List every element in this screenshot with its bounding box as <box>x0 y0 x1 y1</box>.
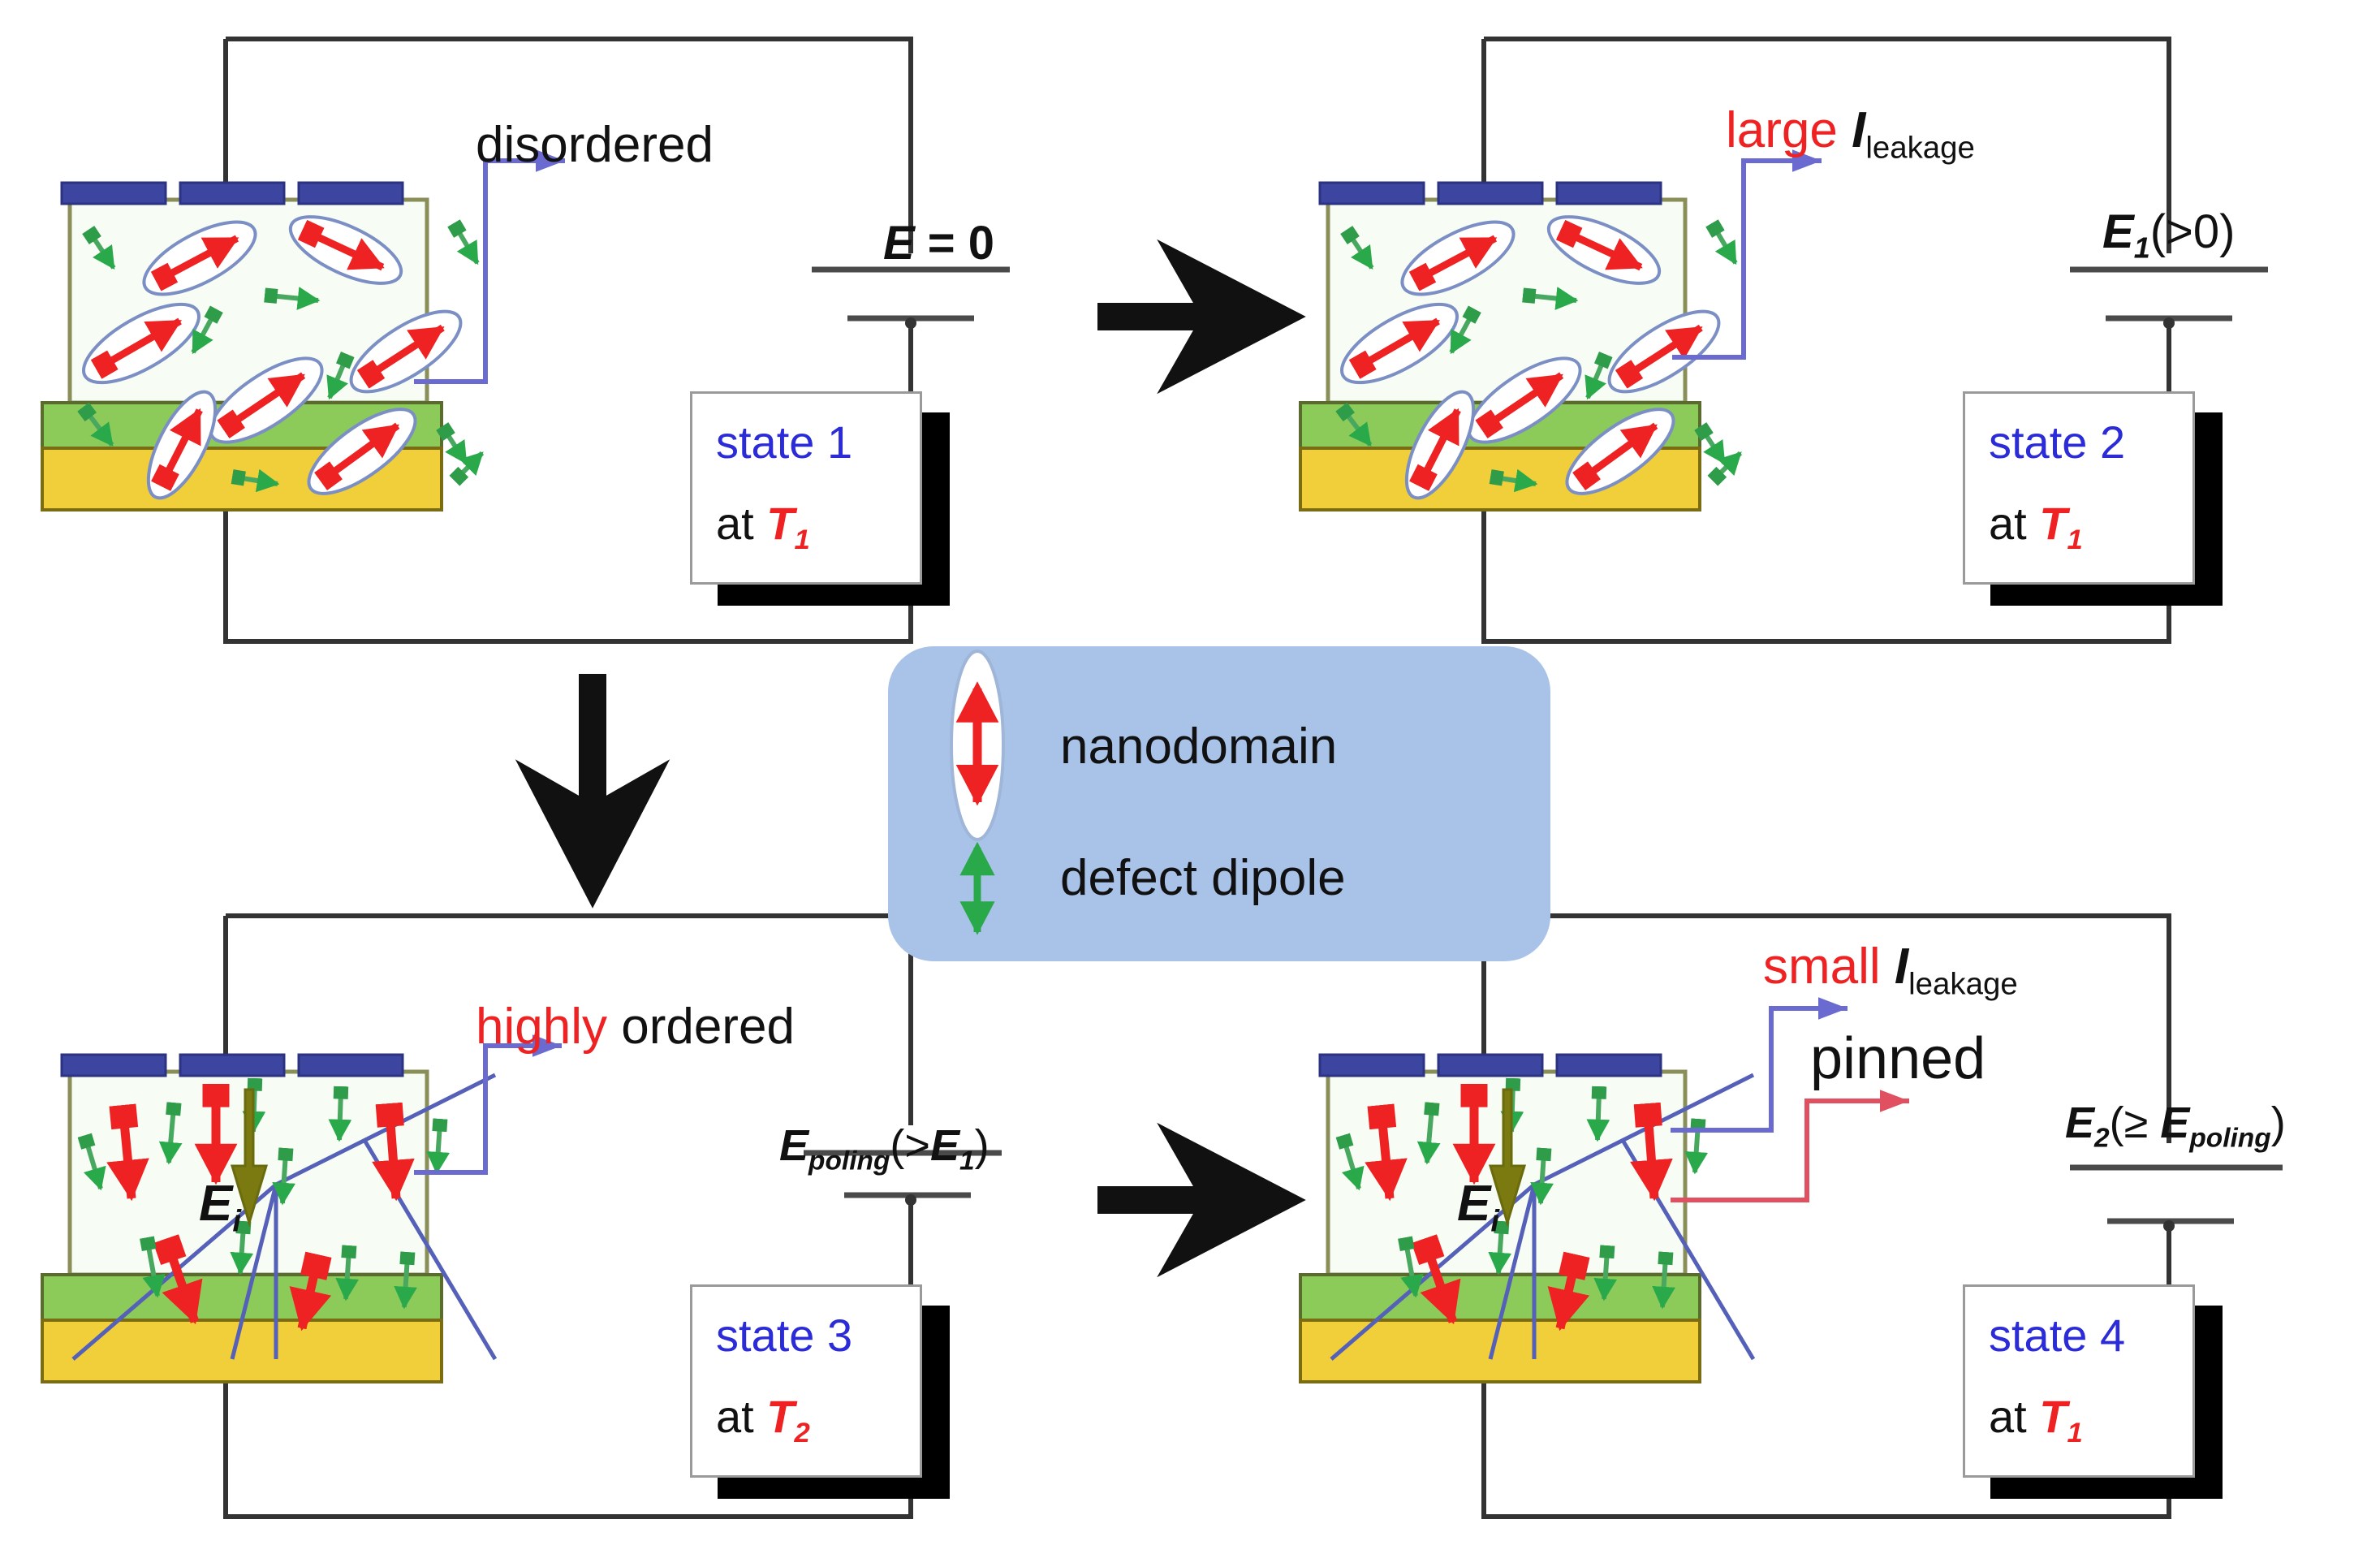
ei-sub-3: i <box>232 1203 241 1238</box>
legend-label-defect-dipole: defect dipole <box>1060 849 1346 907</box>
device-stack-4 <box>1300 1055 1753 1382</box>
e-poling-label: Epoling(>E1) <box>779 1120 990 1177</box>
current-symbol: I <box>1852 102 1865 158</box>
device-stack-1 <box>42 183 482 510</box>
large-word: large <box>1726 102 1852 158</box>
e-zero-label: E = 0 <box>883 216 994 270</box>
leakage-subscript: leakage <box>1865 130 1975 165</box>
e-poling-tail-sub: 1 <box>959 1146 975 1176</box>
state-3-label: state 3 <box>716 1309 852 1362</box>
e-poling-sub: poling <box>808 1146 890 1176</box>
e-poling-tail-symbol: E <box>930 1121 959 1170</box>
e1-symbol: E <box>2102 205 2134 258</box>
pinned-word: pinned <box>1810 1026 1985 1091</box>
state-4-T-sub: 1 <box>2067 1418 2082 1448</box>
e-poling-close: ) <box>975 1121 990 1170</box>
state-2-T: T <box>2039 498 2067 549</box>
state-3-T: T <box>766 1391 794 1442</box>
e2-label: E2(≥ Epoling) <box>2065 1098 2286 1155</box>
disordered-callout-black: disordered <box>476 117 714 173</box>
state-1-temperature: at T1 <box>716 497 810 556</box>
e2-tail-symbol: E <box>2160 1099 2189 1147</box>
state-4-label: state 4 <box>1989 1309 2125 1362</box>
state-3-temperature: at T2 <box>716 1390 810 1449</box>
disordered-callout-text: disordered <box>476 120 714 171</box>
state-3-T-sub: 2 <box>794 1418 809 1448</box>
device-stack-2 <box>1300 183 1740 510</box>
state-2-label: state 2 <box>1989 416 2125 468</box>
e2-tail-sub: poling <box>2189 1124 2270 1154</box>
e-poling-symbol: E <box>779 1121 808 1170</box>
small-word: small <box>1763 939 1895 995</box>
e2-close: ) <box>2271 1099 2286 1147</box>
state-2-T-sub: 1 <box>2067 524 2082 555</box>
current-symbol-4: I <box>1895 939 1908 995</box>
leakage-subscript-4: leakage <box>1908 966 2018 1001</box>
legend-label-nanodomain: nanodomain <box>1060 718 1337 775</box>
state-2-temperature: at T1 <box>1989 497 2083 556</box>
state-2-at: at <box>1989 498 2039 549</box>
legend-box: nanodomain defect dipole <box>888 646 1550 961</box>
e1-sub: 1 <box>2134 231 2150 265</box>
ei-symbol-3: E <box>199 1176 232 1232</box>
state-1-T-sub: 1 <box>794 524 809 555</box>
e-poling-rest: (> <box>890 1121 930 1170</box>
state-4-at: at <box>1989 1391 2039 1442</box>
internal-field-label-4: Ei <box>1457 1179 1499 1237</box>
highly-word: highly <box>476 999 621 1055</box>
state-3-at: at <box>716 1391 766 1442</box>
pinned-callout-text: pinned <box>1810 1029 1985 1088</box>
state-1-T: T <box>766 498 794 549</box>
small-leakage-callout-text: small Ileakage <box>1763 942 2018 1000</box>
legend-glyphs <box>888 646 1550 961</box>
e-zero-rest: = 0 <box>915 217 994 270</box>
e1-label: E1(>0) <box>2102 205 2235 265</box>
e2-rest: (≥ <box>2110 1099 2161 1147</box>
ei-sub-4: i <box>1490 1203 1499 1238</box>
state-1-at: at <box>716 498 766 549</box>
device-stack-3 <box>42 1055 495 1382</box>
state-1-label: state 1 <box>716 416 852 468</box>
state-4-T: T <box>2039 1391 2067 1442</box>
ei-symbol-4: E <box>1457 1176 1490 1232</box>
large-leakage-callout-text: large Ileakage <box>1726 106 1975 164</box>
ordered-word: ordered <box>621 999 795 1055</box>
e2-sub: 2 <box>2094 1124 2110 1154</box>
diagram-canvas: nanodomain defect dipole disordered E = … <box>0 0 2380 1541</box>
internal-field-label-3: Ei <box>199 1179 241 1237</box>
state-4-temperature: at T1 <box>1989 1390 2083 1449</box>
highly-ordered-callout-text: highly ordered <box>476 1002 795 1052</box>
e2-symbol: E <box>2065 1099 2094 1147</box>
e-symbol: E <box>883 217 915 270</box>
nanodomain-glyph <box>951 651 1003 840</box>
pinned-leader <box>1671 1101 1909 1200</box>
e1-rest: (>0) <box>2150 205 2236 258</box>
